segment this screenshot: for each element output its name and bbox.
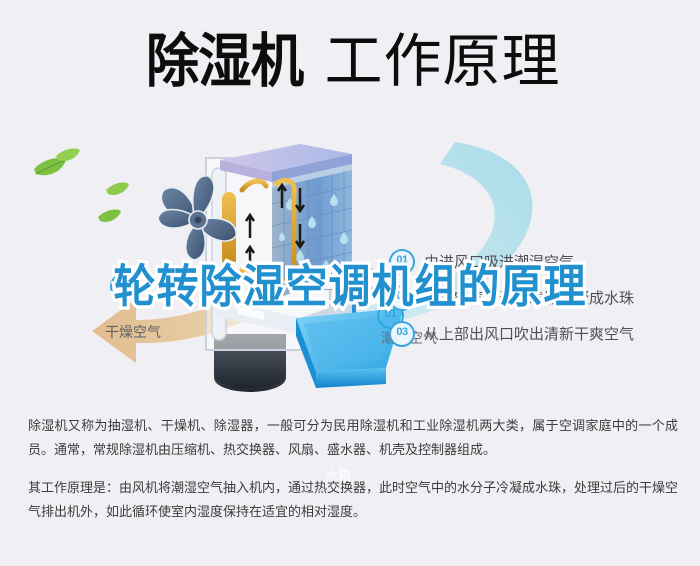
callout-tail-icon [341, 286, 351, 295]
list-item: 01 由进风口吸进潮湿空气 [389, 248, 689, 275]
leaf-icon-group [34, 148, 129, 222]
body-copy: 除湿机又称为抽湿机、干燥机、除湿器，一般可分为民用除湿机和工业除湿机两大类，属于… [28, 415, 678, 525]
list-item: 02 潮湿空气经过蒸发器冷凝成水珠 [389, 284, 689, 311]
legend-badge-03: 03 [389, 321, 415, 347]
legend-text-01: 由进风口吸进潮湿空气 [424, 251, 574, 272]
diagram-badge-02: 02 [294, 267, 321, 294]
legend-text-02: 潮湿空气经过蒸发器冷凝成水珠 [424, 287, 634, 308]
list-item: 03 从上部出风口吹出清新干爽空气 [389, 320, 689, 347]
legend-badge-01: 01 [389, 249, 415, 275]
body-paragraph-2: 其工作原理是：由风机将潮湿空气抽入机内，通过热交换器，此时空气中的水分子冷凝成水… [28, 477, 678, 525]
diagram-badge-03: 03 [110, 273, 137, 300]
page-title-part2: 工作原理 [325, 32, 561, 90]
body-paragraph-1: 除湿机又称为抽湿机、干燥机、除湿器，一般可分为民用除湿机和工业除湿机两大类，属于… [28, 415, 678, 463]
page-root: 除湿机 工作原理 [0, 0, 700, 566]
dry-air-label: 干燥空气 [105, 322, 161, 342]
page-title-part1: 除湿机 [146, 32, 303, 90]
legend-text-03: 从上部出风口吹出清新干爽空气 [424, 323, 634, 344]
steps-legend: 01 由进风口吸进潮湿空气 02 潮湿空气经过蒸发器冷凝成水珠 03 从上部出风… [389, 248, 689, 356]
legend-badge-02: 02 [389, 285, 415, 311]
page-title: 除湿机 工作原理 [0, 18, 700, 104]
